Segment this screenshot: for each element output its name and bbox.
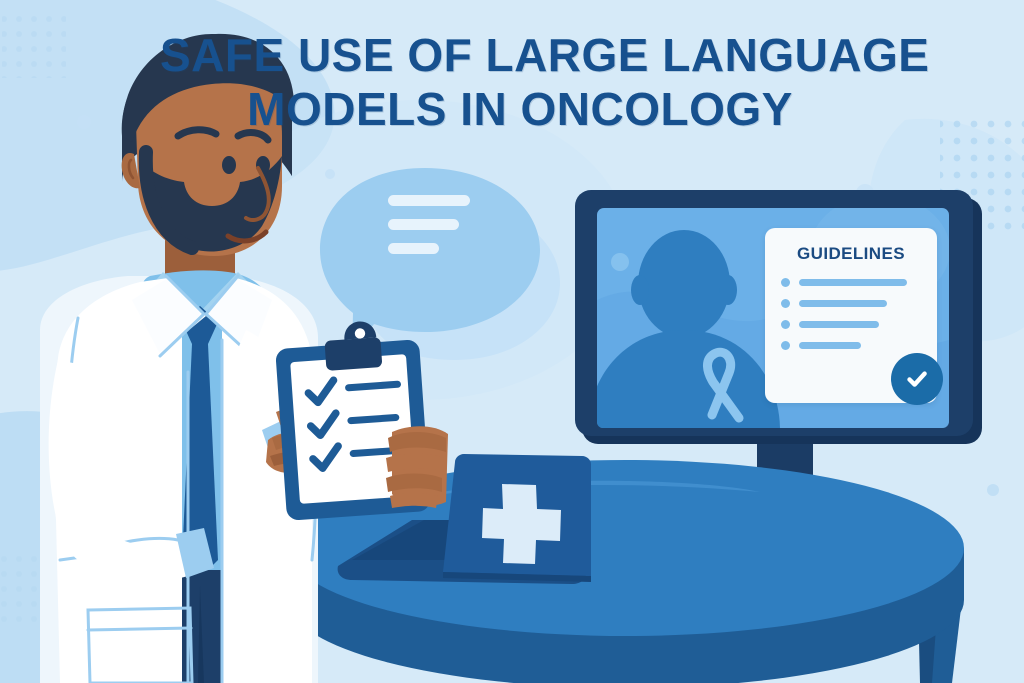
guidelines-title: GUIDELINES [765, 244, 937, 264]
guidelines-list-item [781, 299, 937, 308]
guideline-line [799, 279, 907, 286]
bullet-dot-icon [781, 278, 790, 287]
bullet-dot-icon [781, 341, 790, 350]
guidelines-list-item [781, 341, 937, 350]
guidelines-list [781, 278, 937, 350]
guidelines-list-item [781, 320, 937, 329]
guidelines-list-item [781, 278, 937, 287]
illustration-canvas: GUIDELINES [0, 0, 1024, 683]
check-circle-icon [891, 353, 943, 405]
bullet-dot-icon [781, 299, 790, 308]
bullet-dot-icon [781, 320, 790, 329]
guideline-line [799, 321, 879, 328]
guideline-line [799, 342, 861, 349]
gripping-hand [386, 426, 448, 508]
guideline-line [799, 300, 887, 307]
guidelines-card[interactable]: GUIDELINES [765, 228, 937, 403]
clipboard-clip [323, 320, 382, 371]
